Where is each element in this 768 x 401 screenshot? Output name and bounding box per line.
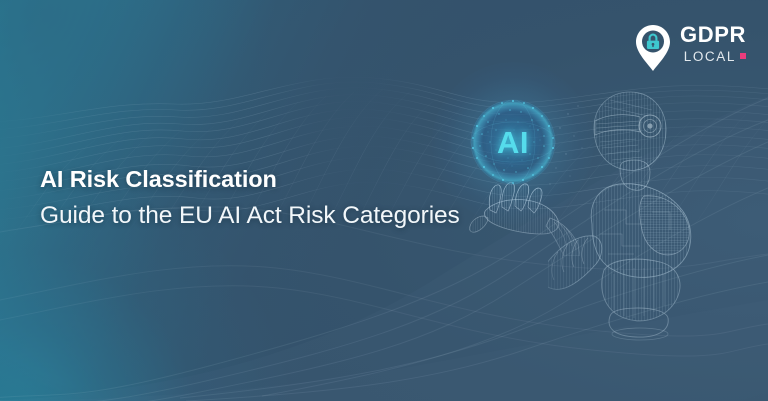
ai-risk-classification-banner: AI AI Risk Classification Guide to the E… [0, 0, 768, 401]
background-vignette [0, 0, 768, 401]
